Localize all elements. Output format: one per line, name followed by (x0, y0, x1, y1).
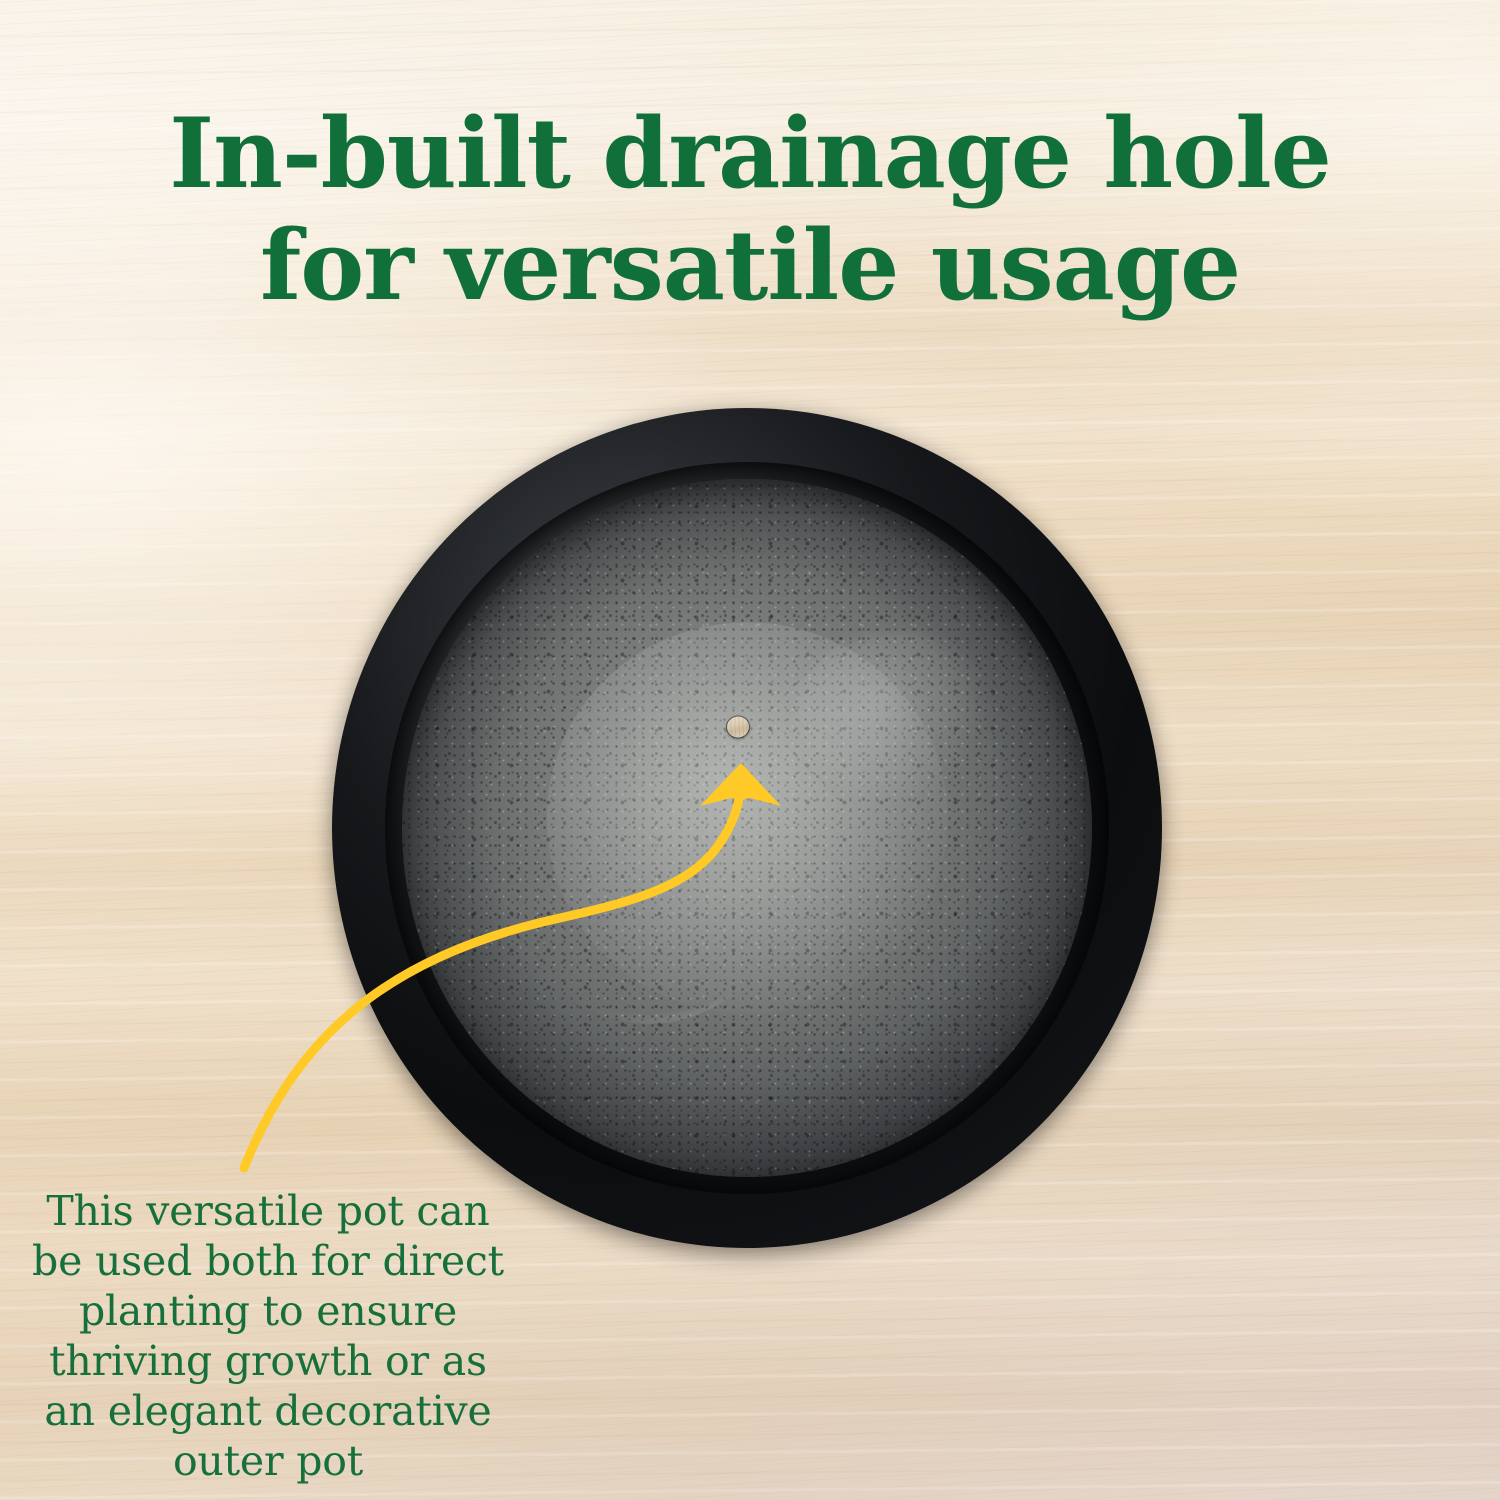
plant-pot-image (332, 408, 1162, 1248)
product-feature-graphic: In-built drainage hole for versatile usa… (0, 0, 1500, 1500)
headline-line-1: In-built drainage hole (0, 98, 1500, 210)
page-title: In-built drainage hole for versatile usa… (0, 98, 1500, 322)
interior-vignette (402, 479, 1093, 1178)
pot-interior (402, 479, 1093, 1178)
pot-outer-rim (332, 408, 1162, 1248)
feature-caption: This versatile pot can be used both for … (18, 1186, 518, 1486)
headline-line-2: for versatile usage (0, 210, 1500, 322)
